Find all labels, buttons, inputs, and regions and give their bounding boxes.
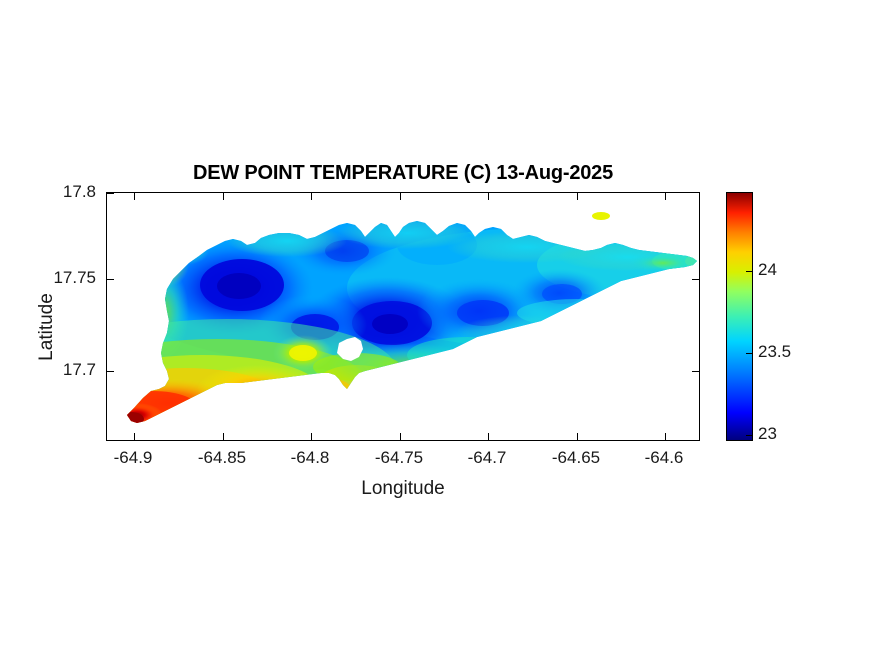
xticklabel-1: -64.85 xyxy=(198,448,246,468)
xtick-2 xyxy=(311,433,312,440)
xtick-4 xyxy=(488,433,489,440)
xtick-6 xyxy=(665,433,666,440)
ytick-0 xyxy=(107,371,114,372)
xticklabel-5: -64.65 xyxy=(552,448,600,468)
colorbar-tick-235 xyxy=(746,353,752,354)
xticklabel-3: -64.75 xyxy=(375,448,423,468)
page-title: DEW POINT TEMPERATURE (C) 13-Aug-2025 xyxy=(106,162,700,185)
plot-area xyxy=(107,193,699,440)
xtick-3 xyxy=(400,433,401,440)
colorbar-label-235: 23.5 xyxy=(758,342,791,362)
ytick-1 xyxy=(107,279,114,280)
colorbar-gradient xyxy=(727,193,752,440)
temperature-field xyxy=(107,193,699,440)
yticklabel-2: 17.8 xyxy=(26,182,96,202)
xtick-top-2 xyxy=(311,193,312,200)
colorbar-tick-23 xyxy=(746,435,752,436)
colorbar-label-24: 24 xyxy=(758,260,777,280)
y-axis-label: Latitude xyxy=(36,252,58,402)
xtick-top-5 xyxy=(577,193,578,200)
plot-axes xyxy=(106,192,700,441)
dew-point-heatmap xyxy=(107,193,699,440)
xtick-top-6 xyxy=(665,193,666,200)
isolated-yellow-speck xyxy=(587,207,617,227)
xticklabel-4: -64.7 xyxy=(468,448,507,468)
colorbar-label-23: 23 xyxy=(758,424,777,444)
colorbar xyxy=(726,192,753,441)
xticklabel-0: -64.9 xyxy=(114,448,153,468)
xticklabel-2: -64.8 xyxy=(291,448,330,468)
x-axis-label: Longitude xyxy=(106,478,700,500)
xticklabel-6: -64.6 xyxy=(645,448,684,468)
xtick-1 xyxy=(223,433,224,440)
xtick-5 xyxy=(577,433,578,440)
xtick-0 xyxy=(134,433,135,440)
figure-canvas: DEW POINT TEMPERATURE (C) 13-Aug-2025 xyxy=(0,0,875,656)
ytick-right-0 xyxy=(692,371,699,372)
colorbar-tick-24 xyxy=(746,271,752,272)
xtick-top-3 xyxy=(400,193,401,200)
xtick-top-4 xyxy=(488,193,489,200)
xtick-top-0 xyxy=(134,193,135,200)
xtick-top-1 xyxy=(223,193,224,200)
ytick-right-1 xyxy=(692,279,699,280)
ytick-2 xyxy=(107,193,114,194)
